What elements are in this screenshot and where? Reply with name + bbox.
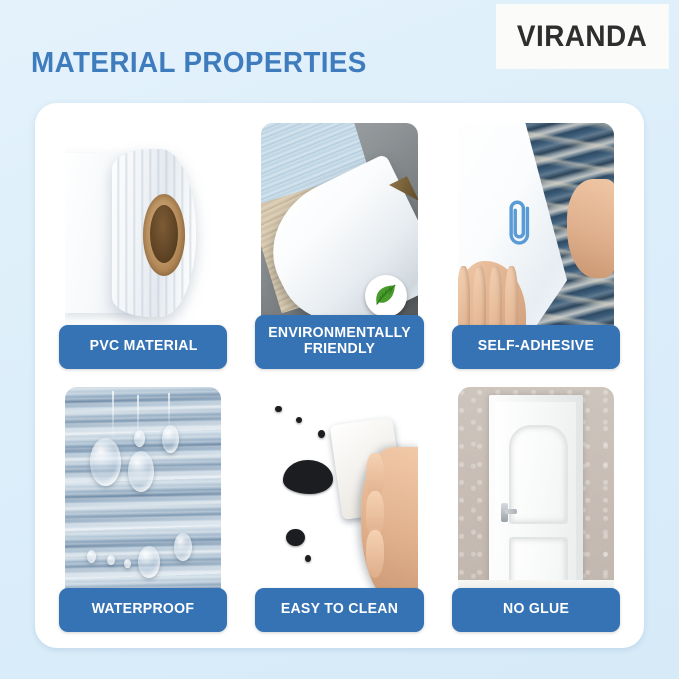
feature-label-text: EASY TO CLEAN <box>281 602 398 618</box>
feature-label-banner: WATERPROOF <box>59 588 227 632</box>
water-droplet <box>174 533 191 561</box>
feature-label-banner: EASY TO CLEAN <box>255 588 423 632</box>
feature-card-self-adhesive[interactable]: SELF-ADHESIVE <box>444 117 628 371</box>
hand-holding-cloth <box>361 447 417 602</box>
feature-label-banner: PVC MATERIAL <box>59 325 227 369</box>
feature-label-text: PVC MATERIAL <box>89 339 197 355</box>
features-panel: PVC MATERIAL <box>35 103 644 648</box>
feature-card-environmentally-friendly[interactable]: ENVIRONMENTALLY FRIENDLY <box>247 117 431 371</box>
water-droplet <box>90 438 121 485</box>
dirt-stain <box>318 430 326 439</box>
water-droplet <box>87 550 96 563</box>
infographic-page: VIRANDA MATERIAL PROPERTIES PVC MATERIAL <box>0 0 679 679</box>
page-title: MATERIAL PROPERTIES <box>31 47 367 80</box>
feature-label-line1: ENVIRONMENTALLY <box>268 325 411 341</box>
feature-card-easy-to-clean[interactable]: EASY TO CLEAN <box>247 381 431 635</box>
right-hand <box>567 179 614 278</box>
water-droplet <box>107 555 115 566</box>
drop-trail <box>112 391 114 438</box>
feature-label-banner: ENVIRONMENTALLY FRIENDLY <box>255 315 423 369</box>
feature-label-text: SELF-ADHESIVE <box>478 339 594 355</box>
feature-label-banner: SELF-ADHESIVE <box>452 325 620 369</box>
water-droplet <box>134 430 145 447</box>
easy-to-clean-image <box>261 387 417 603</box>
door-handle <box>501 503 509 522</box>
water-droplet <box>162 425 179 453</box>
self-adhesive-image <box>458 123 614 339</box>
water-droplet <box>124 559 130 568</box>
no-glue-door-image <box>458 387 614 603</box>
feature-label-banner: NO GLUE <box>452 588 620 632</box>
feature-card-no-glue[interactable]: NO GLUE <box>444 381 628 635</box>
brand-logo-badge: VIRANDA <box>497 5 668 68</box>
feature-label-text: NO GLUE <box>503 602 569 618</box>
dirt-stain <box>283 460 333 494</box>
pvc-roll-image <box>65 123 221 339</box>
paperclip-icon <box>501 188 542 261</box>
feature-label-text: ENVIRONMENTALLY FRIENDLY <box>268 326 411 357</box>
features-grid: PVC MATERIAL <box>51 117 628 634</box>
water-droplet <box>138 546 160 578</box>
brand-name: VIRANDA <box>517 20 647 54</box>
eco-wallpaper-image <box>261 123 417 339</box>
feature-label-text: WATERPROOF <box>92 602 195 618</box>
dirt-stain <box>305 555 311 563</box>
drop-trail <box>168 393 170 427</box>
feature-label-line2: FRIENDLY <box>304 341 375 357</box>
dirt-stain <box>286 529 305 546</box>
leaf-icon <box>365 275 407 317</box>
dirt-stain <box>275 406 281 412</box>
water-droplet <box>128 451 155 492</box>
dirt-stain <box>296 417 302 423</box>
door-panel-top <box>509 425 568 524</box>
feature-card-pvc-material[interactable]: PVC MATERIAL <box>51 117 235 371</box>
feature-card-waterproof[interactable]: WATERPROOF <box>51 381 235 635</box>
waterproof-image <box>65 387 221 603</box>
